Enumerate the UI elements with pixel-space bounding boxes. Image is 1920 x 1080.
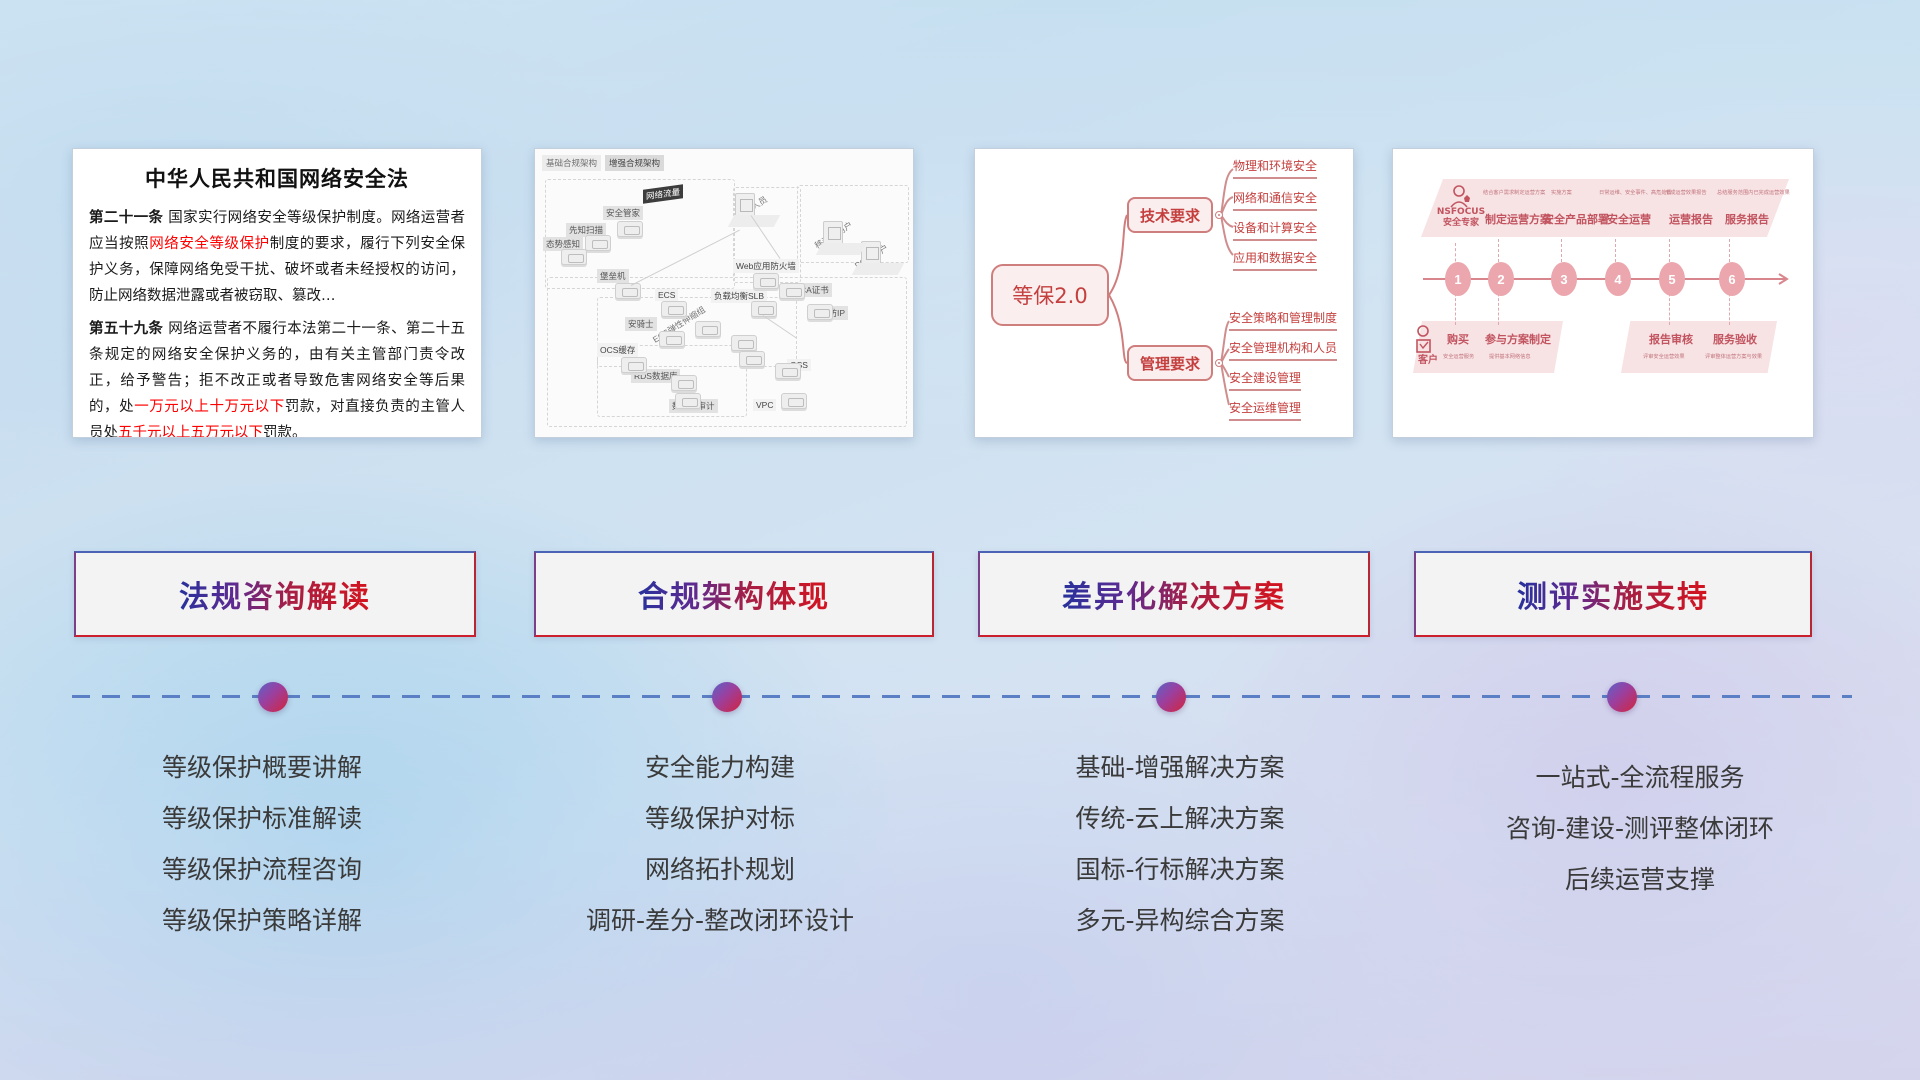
list-item: 等级保护概要讲解 [72, 742, 452, 793]
cloud-architecture-card[interactable]: 基础合规架构 增强合规架构 网络流量 安全管家 先知扫描 态势感知 堡垒机 安骑… [534, 148, 914, 438]
heading-label-3: 差异化解决方案 [1062, 572, 1286, 616]
law-paragraph-21: 第二十一条 国家实行网络安全等级保护制度。网络运营者应当按照网络安全等级保护制度… [89, 205, 465, 309]
arch-label-vpc: VPC [753, 399, 776, 411]
list-column-2: 安全能力构建 等级保护对标 网络拓扑规划 调研-差分-整改闭环设计 [520, 742, 920, 946]
list-item: 基础-增强解决方案 [980, 742, 1380, 793]
mindmap-leaf-app-data: 应用和数据安全 [1233, 249, 1317, 271]
arch-node-ecs3 [731, 335, 757, 351]
arch-node-ca [779, 283, 805, 299]
arch-label-ocs-cache: OCS缓存 [597, 343, 638, 357]
list-item: 安全能力构建 [520, 742, 920, 793]
law-p59-highlight-1: 一万元以上十万元以下 [134, 399, 285, 415]
heading-row: 法规咨询解读 合规架构体现 差异化解决方案 测评实施支持 [0, 551, 1920, 639]
nsfocus-sub-plan: 结合客户需求制定运营方案 [1483, 189, 1545, 196]
law-title: 中华人民共和国网络安全法 [89, 163, 465, 193]
mindmap-root-label: 等保2.0 [1012, 280, 1087, 310]
nsfocus-brand-name: NSFOCUS [1431, 207, 1491, 218]
bottom-list-row: 等级保护概要讲解 等级保护标准解读 等级保护流程咨询 等级保护策略详解 安全能力… [0, 742, 1920, 1042]
list-item: 传统-云上解决方案 [980, 793, 1380, 844]
mindmap-root-node[interactable]: 等保2.0 [991, 264, 1109, 326]
list-item: 等级保护策略详解 [72, 895, 452, 946]
mindmap-leaf-operations: 安全运维管理 [1229, 399, 1301, 421]
nsfocus-step-operate: 安全运营 [1607, 211, 1651, 227]
tab-enhanced-architecture[interactable]: 增强合规架构 [605, 155, 664, 171]
nsfocus-brand-sub: 安全专家 [1431, 218, 1491, 229]
mindmap-leaf-policy-system: 安全策略和管理制度 [1229, 309, 1337, 331]
mindmap-leaf-device-compute: 设备和计算安全 [1233, 219, 1317, 241]
nsfocus-step-acceptance: 服务验收 [1713, 331, 1757, 347]
arch-label-security-butler: 安全管家 [603, 206, 643, 220]
nsfocus-step-purchase: 购买 [1447, 331, 1469, 347]
list-item: 等级保护流程咨询 [72, 844, 452, 895]
nsfocus-customer-label: 客户 [1411, 355, 1445, 366]
law-p59-post: 罚款。 [263, 425, 307, 438]
arch-node-ecs [661, 301, 687, 317]
mindmap-collapse-dot-technical[interactable] [1215, 211, 1223, 219]
nsfocus-step-number-5: 5 [1659, 262, 1685, 296]
mindmap-branch-technical-label: 技术要求 [1140, 205, 1200, 226]
mindmap-branch-management[interactable]: 管理要求 [1127, 345, 1213, 381]
nsfocus-step-join-plan: 参与方案制定 [1485, 331, 1551, 347]
mindmap-leaf-org-personnel: 安全管理机构和人员 [1229, 339, 1337, 361]
heading-box-compliance-architecture[interactable]: 合规架构体现 [534, 551, 934, 637]
list-item: 咨询-建设-测评整体闭环 [1440, 803, 1840, 854]
heading-box-differentiated-solution[interactable]: 差异化解决方案 [978, 551, 1370, 637]
arch-node-bastion [615, 283, 641, 299]
arch-label-anqishi: 安骑士 [625, 317, 657, 331]
list-item: 后续运营支撑 [1440, 854, 1840, 905]
heading-label-4: 测评实施支持 [1517, 572, 1709, 616]
nsfocus-brand-block: NSFOCUS 安全专家 [1431, 207, 1491, 229]
mindmap-collapse-dot-management[interactable] [1215, 359, 1223, 367]
heading-label-1: 法规咨询解读 [179, 572, 371, 616]
timeline-dot-4[interactable] [1607, 682, 1637, 712]
nsfocus-step-number-1: 1 [1445, 262, 1471, 296]
law-article-label-21: 第二十一条 [89, 210, 163, 226]
dengbao-mindmap-card[interactable]: 等保2.0 技术要求 物理和环境安全 网络和通信安全 设备和计算安全 应用和数据… [974, 148, 1354, 438]
timeline-dot-2[interactable] [712, 682, 742, 712]
arch-node-gaofangip [807, 304, 833, 320]
timeline-dot-1[interactable] [258, 682, 288, 712]
arch-node-xianzhi [585, 235, 611, 251]
law-body: 中华人民共和国网络安全法 第二十一条 国家实行网络安全等级保护制度。网络运营者应… [73, 149, 481, 438]
list-item: 多元-异构综合方案 [980, 895, 1380, 946]
arch-node-oss [775, 363, 801, 379]
mindmap-branch-technical[interactable]: 技术要求 [1127, 197, 1213, 233]
arch-label-bastion-host: 堡垒机 [597, 269, 629, 283]
list-column-1: 等级保护概要讲解 等级保护标准解读 等级保护流程咨询 等级保护策略详解 [72, 742, 452, 946]
nsfocus-sub-join-plan: 提供基本网络信息 [1489, 353, 1531, 360]
architecture-diagram: 基础合规架构 增强合规架构 网络流量 安全管家 先知扫描 态势感知 堡垒机 安骑… [535, 149, 913, 437]
nsfocus-step-plan: 制定运营方案 [1485, 211, 1551, 227]
nsfocus-sub-operate: 日常运维、安全事件、高危处置 [1599, 189, 1672, 196]
arch-label-waf: Web应用防火墙 [733, 259, 799, 273]
heading-box-regulation-consulting[interactable]: 法规咨询解读 [74, 551, 476, 637]
arch-node-waf [753, 273, 779, 289]
arch-node-db-audit [675, 393, 701, 409]
list-column-4: 一站式-全流程服务 咨询-建设-测评整体闭环 后续运营支撑 [1440, 752, 1840, 905]
nsfocus-step-deploy: 安全产品部署 [1543, 211, 1609, 227]
nsfocus-timeline: NSFOCUS 安全专家 客户 结合客户需求制定运营方案 实施方案 日常运维、安… [1393, 149, 1813, 437]
nsfocus-sub-svcreport: 总结服务范围内已完成运营效果 [1717, 189, 1790, 196]
nsfocus-sub-review: 评审安全运营效果 [1643, 353, 1685, 360]
nsfocus-step-review: 报告审核 [1649, 331, 1693, 347]
heading-label-2: 合规架构体现 [638, 572, 830, 616]
law-paragraph-59: 第五十九条 网络运营者不履行本法第二十一条、第二十五条规定的网络安全保护义务的，… [89, 316, 465, 438]
arch-node-ocs [621, 357, 647, 373]
list-item: 等级保护对标 [520, 793, 920, 844]
law-p21-highlight: 网络安全等级保护 [149, 236, 270, 252]
arch-node-butler [617, 221, 643, 237]
list-item: 国标-行标解决方案 [980, 844, 1380, 895]
nsfocus-sub-purchase: 安全运营服务 [1443, 353, 1474, 360]
thumbnail-card-row: 中华人民共和国网络安全法 第二十一条 国家实行网络安全等级保护制度。网络运营者应… [0, 148, 1920, 443]
timeline-dashed-line [72, 694, 1852, 698]
arch-node-vpc [781, 393, 807, 409]
nsfocus-step-number-2: 2 [1488, 262, 1514, 296]
nsfocus-step-opreport: 运营报告 [1669, 211, 1713, 227]
list-item: 调研-差分-整改闭环设计 [520, 895, 920, 946]
nsfocus-step-number-3: 3 [1551, 262, 1577, 296]
arch-label-ecs: ECS [655, 289, 678, 301]
nsfocus-sub-acceptance: 评审整体运营方案与效果 [1705, 353, 1762, 360]
heading-box-assessment-support[interactable]: 测评实施支持 [1414, 551, 1812, 637]
list-item: 等级保护标准解读 [72, 793, 452, 844]
nsfocus-sub-deploy: 实施方案 [1551, 189, 1572, 196]
arch-pc-ops [735, 193, 755, 217]
mindmap-leaf-network-comm: 网络和通信安全 [1233, 189, 1317, 211]
arch-node-anqishi [659, 331, 685, 347]
nsfocus-step-number-6: 6 [1719, 262, 1745, 296]
law-text-card[interactable]: 中华人民共和国网络安全法 第二十一条 国家实行网络安全等级保护制度。网络运营者应… [72, 148, 482, 438]
architecture-tabs[interactable]: 基础合规架构 增强合规架构 [542, 155, 664, 171]
nsfocus-process-card[interactable]: NSFOCUS 安全专家 客户 结合客户需求制定运营方案 实施方案 日常运维、安… [1392, 148, 1814, 438]
arch-pc-mobile [823, 221, 843, 245]
arch-node-rds [671, 375, 697, 391]
mindmap-branch-management-label: 管理要求 [1140, 353, 1200, 374]
nsfocus-step-svcreport: 服务报告 [1725, 211, 1769, 227]
arch-node-situation [561, 249, 587, 265]
nsfocus-sub-opreport: 形成运营效果报告 [1665, 189, 1707, 196]
tab-basic-architecture[interactable]: 基础合规架构 [542, 155, 601, 171]
list-item: 网络拓扑规划 [520, 844, 920, 895]
nsfocus-step-number-4: 4 [1605, 262, 1631, 296]
mindmap-leaf-physical-env: 物理和环境安全 [1233, 157, 1317, 179]
arch-node-ecs2 [695, 321, 721, 337]
timeline-dot-3[interactable] [1156, 682, 1186, 712]
law-article-label-59: 第五十九条 [89, 321, 163, 337]
law-p59-highlight-2: 五千元以上五万元以下 [118, 425, 263, 438]
mindmap: 等保2.0 技术要求 物理和环境安全 网络和通信安全 设备和计算安全 应用和数据… [975, 149, 1353, 437]
arch-node-ecs4 [739, 351, 765, 367]
mindmap-leaf-construction: 安全建设管理 [1229, 369, 1301, 391]
list-column-3: 基础-增强解决方案 传统-云上解决方案 国标-行标解决方案 多元-异构综合方案 [980, 742, 1380, 946]
list-item: 一站式-全流程服务 [1440, 752, 1840, 803]
arch-platform-mobile [816, 243, 866, 255]
arch-platform-pc [852, 263, 904, 275]
